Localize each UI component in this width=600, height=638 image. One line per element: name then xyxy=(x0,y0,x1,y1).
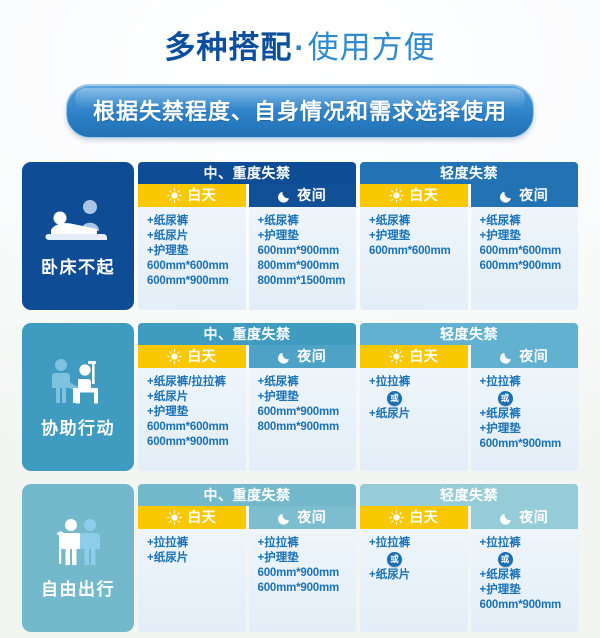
column-header-day-label: 白天 xyxy=(409,506,438,529)
sun-icon xyxy=(167,188,182,203)
column-mild-day: 白天 +拉拉裤或+纸尿片 xyxy=(360,345,468,471)
column-header-day-label: 白天 xyxy=(409,184,438,207)
moon-icon xyxy=(278,189,292,203)
row-grid: 中、重度失禁 白天 +纸尿裤/拉拉裤+纸尿片+护理垫600mm*600mm600… xyxy=(138,323,578,471)
size-text: 600mm*900mm xyxy=(147,274,246,289)
column-header-night-label: 夜间 xyxy=(519,184,548,207)
page-title-separator: · xyxy=(292,30,307,65)
size-text: 600mm*900mm xyxy=(258,405,357,420)
product-text: +拉拉裤 xyxy=(369,375,468,390)
column-mild-night: 夜间 +拉拉裤或+纸尿裤+护理垫600mm*900mm xyxy=(471,506,579,632)
group-severe: 中、重度失禁 白天 +纸尿裤/拉拉裤+纸尿片+护理垫600mm*600mm600… xyxy=(138,323,356,471)
group-header-mild: 轻度失禁 xyxy=(360,484,578,506)
table-row: 协助行动 中、重度失禁 白天 +纸尿裤/拉拉裤+纸尿片+护理 xyxy=(22,323,578,471)
size-text: 600mm*600mm xyxy=(147,259,246,274)
table-row: 卧床不起 中、重度失禁 白天 +纸尿裤+纸尿片+护理垫600 xyxy=(22,162,578,310)
group-header-severe: 中、重度失禁 xyxy=(138,484,356,506)
product-text: +纸尿裤 xyxy=(480,214,579,229)
cell-mild-day: +拉拉裤或+纸尿片 xyxy=(360,529,468,632)
moon-icon xyxy=(500,511,514,525)
cell-severe-night: +拉拉裤+护理垫600mm*900mm600mm*900mm xyxy=(249,529,357,632)
moon-icon xyxy=(500,350,514,364)
product-text: +纸尿裤/拉拉裤 xyxy=(147,375,246,390)
column-severe-night: 夜间 +拉拉裤+护理垫600mm*900mm600mm*900mm xyxy=(249,506,357,632)
column-header-night-label: 夜间 xyxy=(297,345,326,368)
moon-icon xyxy=(500,189,514,203)
column-header-night: 夜间 xyxy=(471,506,579,529)
column-severe-day: 白天 +纸尿裤/拉拉裤+纸尿片+护理垫600mm*600mm600mm*900m… xyxy=(138,345,246,471)
column-severe-night: 夜间 +纸尿裤+护理垫600mm*900mm800mm*900mm xyxy=(249,345,357,471)
cell-mild-night: +拉拉裤或+纸尿裤+护理垫600mm*900mm xyxy=(471,529,579,632)
sun-icon xyxy=(389,349,404,364)
group-mild: 轻度失禁 白天 +拉拉裤或+纸尿片 xyxy=(360,323,578,471)
column-header-day: 白天 xyxy=(138,184,246,207)
column-header-night: 夜间 xyxy=(249,506,357,529)
column-header-night-label: 夜间 xyxy=(297,184,326,207)
size-text: 600mm*600mm xyxy=(147,420,246,435)
product-text: +纸尿裤 xyxy=(480,568,579,583)
column-header-night: 夜间 xyxy=(471,345,579,368)
subtitle-banner-wrap: 根据失禁程度、自身情况和需求选择使用 xyxy=(0,84,600,138)
column-header-day: 白天 xyxy=(138,345,246,368)
category-cell-mobile: 自由出行 xyxy=(22,484,134,632)
cell-severe-night: +纸尿裤+护理垫600mm*900mm800mm*900mm800mm*1500… xyxy=(249,207,357,310)
page-title-bold: 多种搭配 xyxy=(164,30,292,65)
group-header-severe: 中、重度失禁 xyxy=(138,323,356,345)
column-header-night-label: 夜间 xyxy=(519,345,548,368)
product-text: +护理垫 xyxy=(258,229,357,244)
product-text: +纸尿片 xyxy=(147,390,246,405)
product-text: +护理垫 xyxy=(258,390,357,405)
moon-icon xyxy=(278,350,292,364)
size-text: 600mm*900mm xyxy=(480,259,579,274)
group-severe: 中、重度失禁 白天 +纸尿裤+纸尿片+护理垫600mm*600mm600mm*9… xyxy=(138,162,356,310)
product-text: +护理垫 xyxy=(147,244,246,259)
product-text: +护理垫 xyxy=(369,229,468,244)
size-text: 600mm*900mm xyxy=(147,435,246,450)
product-text: +纸尿片 xyxy=(369,568,468,583)
column-header-night: 夜间 xyxy=(249,184,357,207)
product-text: +护理垫 xyxy=(480,422,579,437)
column-header-night-label: 夜间 xyxy=(519,506,548,529)
row-grid: 中、重度失禁 白天 +纸尿裤+纸尿片+护理垫600mm*600mm600mm*9… xyxy=(138,162,578,310)
size-text: 800mm*1500mm xyxy=(258,274,357,289)
column-header-day-label: 白天 xyxy=(187,345,216,368)
page-title: 多种搭配·使用方便 xyxy=(0,0,600,63)
or-badge: 或 xyxy=(387,552,402,567)
category-label: 卧床不起 xyxy=(41,253,115,278)
group-severe: 中、重度失禁 白天 +拉拉裤+纸尿片 xyxy=(138,484,356,632)
size-text: 600mm*600mm xyxy=(369,244,468,259)
assisted-walking-icon xyxy=(45,353,111,407)
cell-severe-night: +纸尿裤+护理垫600mm*900mm800mm*900mm xyxy=(249,368,357,471)
cell-mild-night: +纸尿裤+护理垫600mm*600mm600mm*900mm xyxy=(471,207,579,310)
product-text: +拉拉裤 xyxy=(147,536,246,551)
product-text: +纸尿裤 xyxy=(258,375,357,390)
product-text: +纸尿片 xyxy=(147,551,246,566)
cell-mild-day: +拉拉裤或+纸尿片 xyxy=(360,368,468,471)
category-cell-bedridden: 卧床不起 xyxy=(22,162,134,310)
column-header-day: 白天 xyxy=(360,345,468,368)
group-header-severe: 中、重度失禁 xyxy=(138,162,356,184)
product-text: +拉拉裤 xyxy=(369,536,468,551)
cell-mild-night: +拉拉裤或+纸尿裤+护理垫600mm*900mm xyxy=(471,368,579,471)
product-text: +纸尿裤 xyxy=(480,407,579,422)
size-text: 600mm*900mm xyxy=(258,244,357,259)
product-text: +纸尿裤 xyxy=(369,214,468,229)
product-text: +纸尿片 xyxy=(369,407,468,422)
subtitle-banner: 根据失禁程度、自身情况和需求选择使用 xyxy=(66,84,534,138)
category-label: 自由出行 xyxy=(41,575,115,600)
size-text: 600mm*600mm xyxy=(480,244,579,259)
table-row: 自由出行 中、重度失禁 白天 +拉拉裤+纸尿片 xyxy=(22,484,578,632)
column-mild-day: 白天 +纸尿裤+护理垫600mm*600mm xyxy=(360,184,468,310)
row-grid: 中、重度失禁 白天 +拉拉裤+纸尿片 xyxy=(138,484,578,632)
size-text: 600mm*900mm xyxy=(258,581,357,596)
cell-severe-day: +纸尿裤+纸尿片+护理垫600mm*600mm600mm*900mm xyxy=(138,207,246,310)
moon-icon xyxy=(278,511,292,525)
sun-icon xyxy=(167,510,182,525)
group-mild: 轻度失禁 白天 +拉拉裤或+纸尿片 xyxy=(360,484,578,632)
product-text: +护理垫 xyxy=(480,229,579,244)
size-text: 600mm*900mm xyxy=(480,437,579,452)
column-header-day: 白天 xyxy=(360,184,468,207)
cell-mild-day: +纸尿裤+护理垫600mm*600mm xyxy=(360,207,468,310)
group-mild: 轻度失禁 白天 +纸尿裤+护理垫600mm*600mm xyxy=(360,162,578,310)
or-badge: 或 xyxy=(498,391,513,406)
sun-icon xyxy=(389,510,404,525)
product-text: +拉拉裤 xyxy=(258,536,357,551)
column-severe-night: 夜间 +纸尿裤+护理垫600mm*900mm800mm*900mm800mm*1… xyxy=(249,184,357,310)
product-text: +护理垫 xyxy=(147,405,246,420)
column-header-day: 白天 xyxy=(360,506,468,529)
or-badge: 或 xyxy=(498,552,513,567)
size-text: 600mm*900mm xyxy=(258,566,357,581)
column-mild-night: 夜间 +纸尿裤+护理垫600mm*600mm600mm*900mm xyxy=(471,184,579,310)
column-header-day: 白天 xyxy=(138,506,246,529)
product-text: +护理垫 xyxy=(258,551,357,566)
column-header-night-label: 夜间 xyxy=(297,506,326,529)
recommendation-table: 卧床不起 中、重度失禁 白天 +纸尿裤+纸尿片+护理垫600 xyxy=(22,162,578,632)
bed-patient-icon xyxy=(45,192,111,246)
column-header-day-label: 白天 xyxy=(187,506,216,529)
category-cell-assisted: 协助行动 xyxy=(22,323,134,471)
product-text: +护理垫 xyxy=(480,583,579,598)
column-header-day-label: 白天 xyxy=(187,184,216,207)
product-text: +纸尿裤 xyxy=(147,214,246,229)
sun-icon xyxy=(389,188,404,203)
column-header-night: 夜间 xyxy=(471,184,579,207)
column-header-night: 夜间 xyxy=(249,345,357,368)
cell-severe-day: +纸尿裤/拉拉裤+纸尿片+护理垫600mm*600mm600mm*900mm xyxy=(138,368,246,471)
page-title-light: 使用方便 xyxy=(308,30,436,65)
column-header-day-label: 白天 xyxy=(409,345,438,368)
category-label: 协助行动 xyxy=(41,414,115,439)
product-text: +纸尿裤 xyxy=(258,214,357,229)
promo-page: 多种搭配·使用方便 根据失禁程度、自身情况和需求选择使用 卧床不起 xyxy=(0,0,600,638)
product-text: +拉拉裤 xyxy=(480,375,579,390)
column-severe-day: 白天 +拉拉裤+纸尿片 xyxy=(138,506,246,632)
column-severe-day: 白天 +纸尿裤+纸尿片+护理垫600mm*600mm600mm*900mm xyxy=(138,184,246,310)
column-mild-night: 夜间 +拉拉裤或+纸尿裤+护理垫600mm*900mm xyxy=(471,345,579,471)
sun-icon xyxy=(167,349,182,364)
column-mild-day: 白天 +拉拉裤或+纸尿片 xyxy=(360,506,468,632)
product-text: +纸尿片 xyxy=(147,229,246,244)
cell-severe-day: +拉拉裤+纸尿片 xyxy=(138,529,246,632)
size-text: 600mm*900mm xyxy=(480,598,579,613)
walking-elderly-icon xyxy=(45,514,111,568)
group-header-mild: 轻度失禁 xyxy=(360,162,578,184)
or-badge: 或 xyxy=(387,391,402,406)
size-text: 800mm*900mm xyxy=(258,420,357,435)
group-header-mild: 轻度失禁 xyxy=(360,323,578,345)
product-text: +拉拉裤 xyxy=(480,536,579,551)
size-text: 800mm*900mm xyxy=(258,259,357,274)
